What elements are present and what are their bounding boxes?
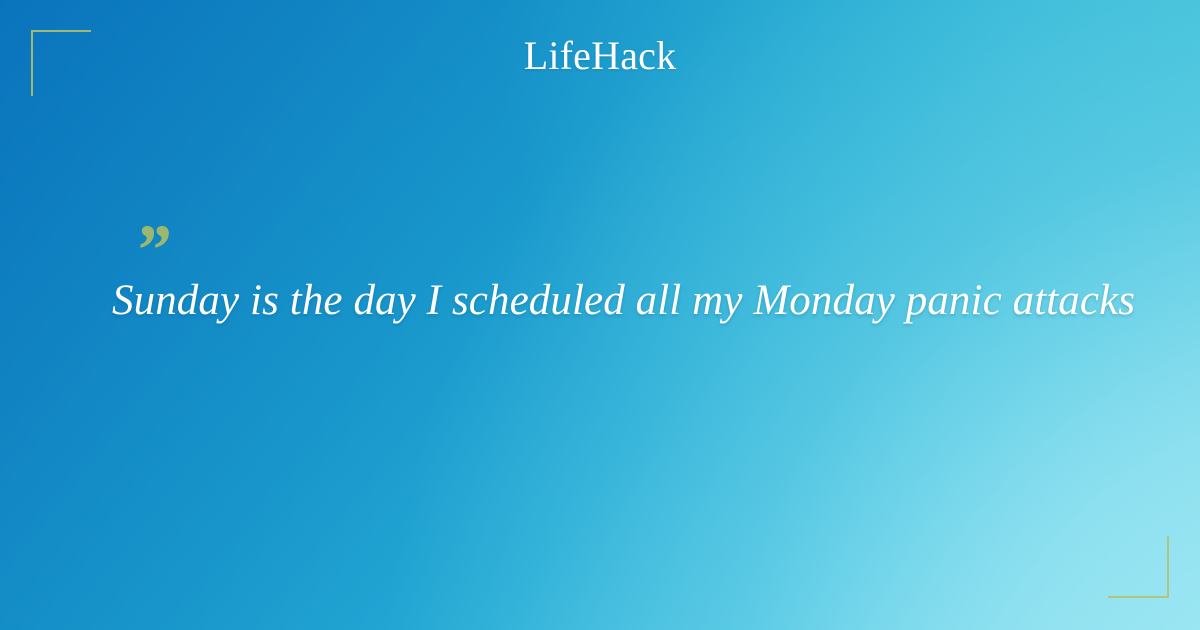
quote-card: LifeHack ” Sunday is the day I scheduled… — [0, 0, 1200, 630]
quotation-mark-icon: ” — [134, 214, 1122, 272]
brand-logo: LifeHack — [0, 36, 1200, 76]
quote-text: Sunday is the day I scheduled all my Mon… — [112, 276, 1122, 327]
corner-bracket-bottom-right-icon — [1108, 536, 1169, 598]
quote-block: ” Sunday is the day I scheduled all my M… — [112, 214, 1122, 327]
